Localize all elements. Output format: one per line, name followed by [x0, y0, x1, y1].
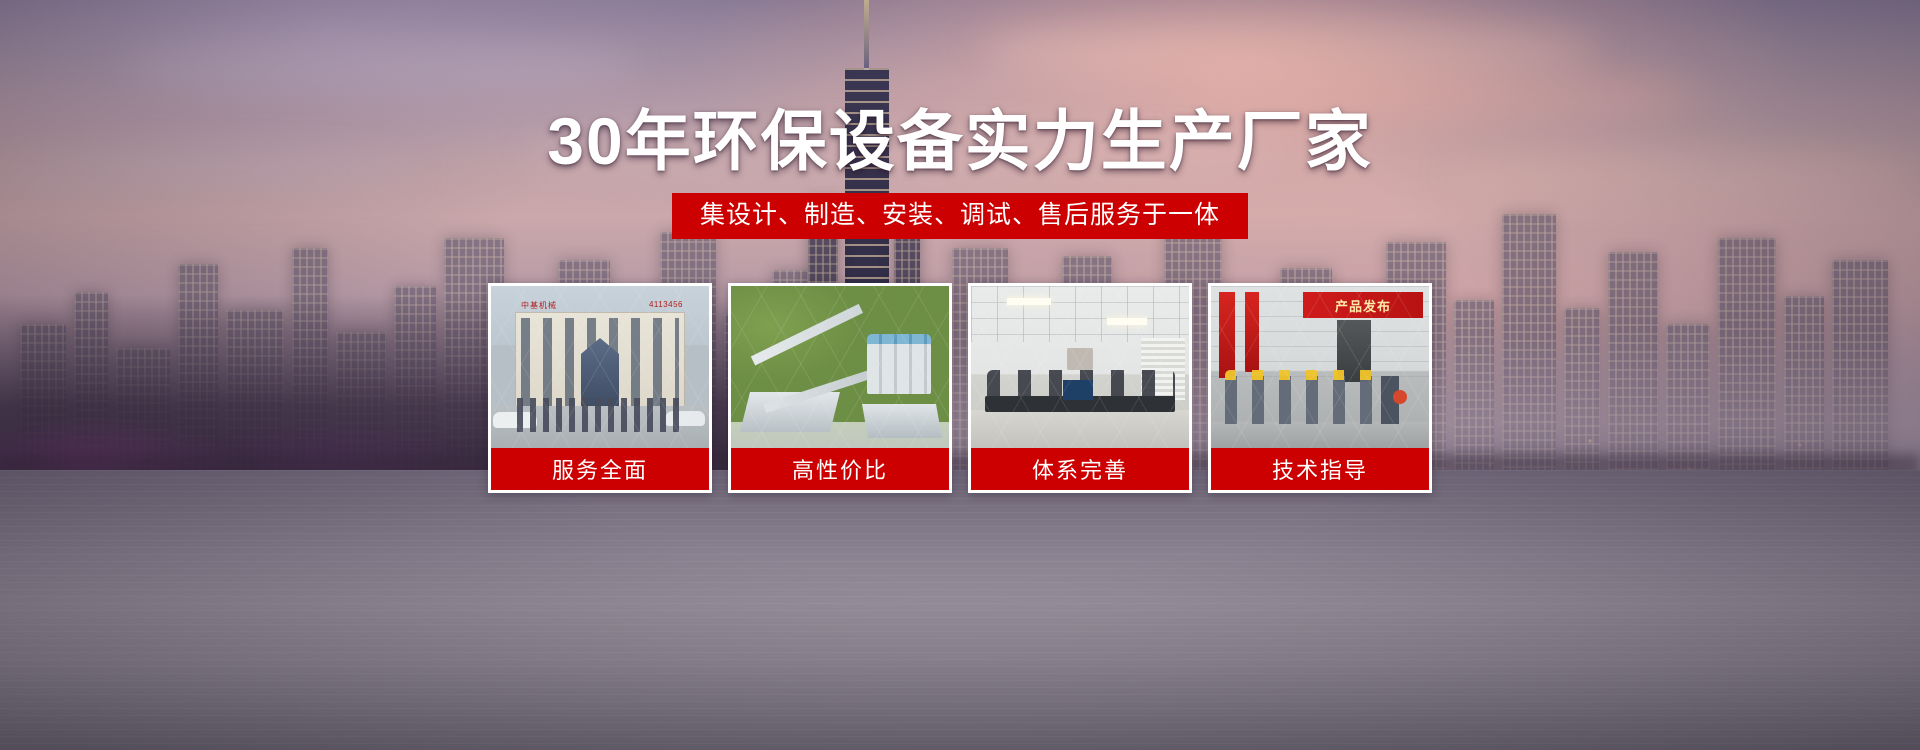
subtitle-badge: 集设计、制造、安装、调试、售后服务于一体 [672, 193, 1248, 239]
feature-card[interactable]: 高性价比 [728, 283, 952, 493]
feature-card-label: 体系完善 [971, 448, 1189, 490]
office-meeting-image [971, 286, 1189, 448]
feature-card-label: 技术指导 [1211, 448, 1429, 490]
feature-card-list: 中基机械 4113456 服务全面 [488, 283, 1432, 493]
page-title: 30年环保设备实力生产厂家 [0, 103, 1920, 179]
building-phone-text: 4113456 [649, 300, 683, 309]
feature-card[interactable]: 体系完善 [968, 283, 1192, 493]
feature-card-label: 高性价比 [731, 448, 949, 490]
feature-card-thumbnail: 产品发布 [1211, 286, 1429, 448]
building-sign-text: 中基机械 [521, 300, 557, 311]
feature-card-label: 服务全面 [491, 448, 709, 490]
industrial-plant-aerial-image [731, 286, 949, 448]
feature-card[interactable]: 中基机械 4113456 服务全面 [488, 283, 712, 493]
hero-banner: 30年环保设备实力生产厂家 集设计、制造、安装、调试、售后服务于一体 中基机械 … [0, 0, 1920, 750]
feature-card-thumbnail [731, 286, 949, 448]
feature-card-thumbnail [971, 286, 1189, 448]
office-building-image: 中基机械 4113456 [491, 286, 709, 448]
factory-workers-image: 产品发布 [1211, 286, 1429, 448]
feature-card-thumbnail: 中基机械 4113456 [491, 286, 709, 448]
feature-card[interactable]: 产品发布 技术指导 [1208, 283, 1432, 493]
factory-banner-text: 产品发布 [1303, 292, 1423, 318]
